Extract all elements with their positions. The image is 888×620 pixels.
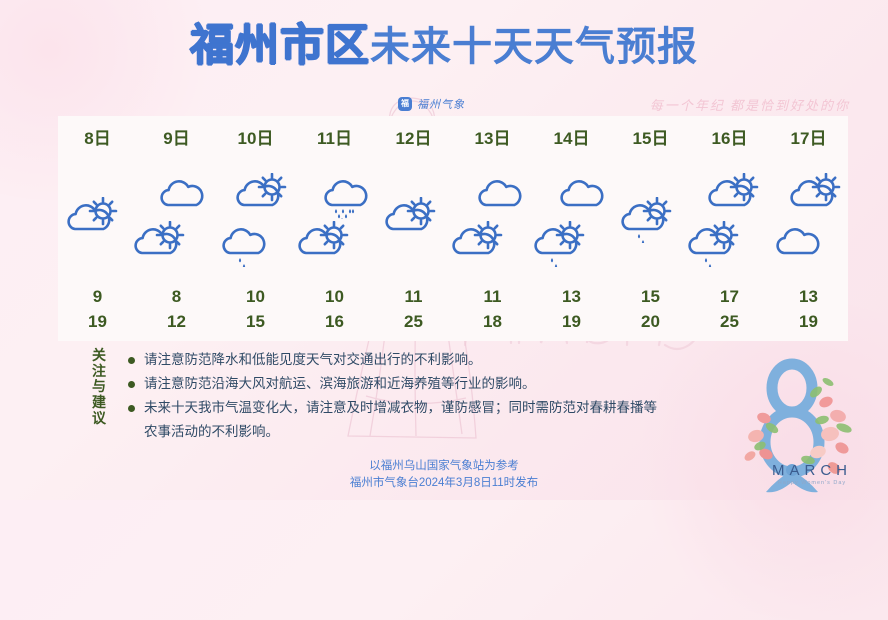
partly-cloudy-icon [448, 221, 510, 267]
cloudy-icon [468, 173, 530, 219]
forecast-temps-row: 91981210151016112511181319152017251319 [58, 284, 848, 340]
cloudy-icon [150, 173, 212, 219]
partly-cloudy-rain-icon [684, 221, 746, 267]
title-city: 福州市区 [190, 21, 370, 70]
temp-low: 10 [216, 284, 295, 309]
advisory-label: 关注与建议 [88, 348, 110, 444]
page-title: 福州市区未来十天天气预报 [0, 24, 888, 68]
temp-low: 10 [295, 284, 374, 309]
forecast-date: 11日 [295, 124, 374, 154]
advisory-item: 请注意防范降水和低能见度天气对交通出行的不利影响。 [124, 348, 657, 372]
advisory-item: 请注意防范沿海大风对航运、滨海旅游和近海养殖等行业的影响。 [124, 372, 657, 396]
partly-cloudy-icon [232, 173, 294, 219]
forecast-temp-cell: 1520 [611, 284, 690, 340]
partly-cloudy-rain-icon [530, 221, 592, 267]
ribbon-month-label: MARCH [752, 462, 872, 479]
temp-high: 25 [374, 309, 453, 334]
advisory-block: 关注与建议 请注意防范降水和低能见度天气对交通出行的不利影响。请注意防范沿海大风… [88, 348, 657, 444]
forecast-temp-cell: 1016 [295, 284, 374, 340]
cloudy-icon [550, 173, 612, 219]
forecast-date: 13日 [453, 124, 532, 154]
partly-cloudy-icon [130, 221, 192, 267]
forecast-icon-cell [130, 160, 212, 280]
forecast-temp-cell: 812 [137, 284, 216, 340]
ribbon-caption: MARCH Happy Women's Day [752, 462, 872, 486]
forecast-icon-cell [612, 160, 684, 280]
temp-high: 20 [611, 309, 690, 334]
forecast-date: 14日 [532, 124, 611, 154]
title-subject: 未来十天天气预报 [370, 25, 698, 69]
advisory-list: 请注意防范降水和低能见度天气对交通出行的不利影响。请注意防范沿海大风对航运、滨海… [124, 348, 657, 444]
forecast-date: 9日 [137, 124, 216, 154]
temp-low: 13 [532, 284, 611, 309]
temp-high: 19 [769, 309, 848, 334]
cloudy-icon [766, 221, 828, 267]
logo-label: 福州气象 [417, 96, 465, 112]
temp-low: 9 [58, 284, 137, 309]
temp-high: 18 [453, 309, 532, 334]
forecast-temp-cell: 1319 [532, 284, 611, 340]
partly-cloudy-icon [786, 173, 848, 219]
forecast-date: 10日 [216, 124, 295, 154]
forecast-temp-cell: 1118 [453, 284, 532, 340]
advisory-item: 农事活动的不利影响。 [124, 420, 657, 444]
forecast-date: 17日 [769, 124, 848, 154]
forecast-icon-cell [58, 160, 130, 280]
heavy-rain-icon [314, 173, 376, 219]
forecast-temp-cell: 1725 [690, 284, 769, 340]
logo-badge-icon: 福 [398, 97, 412, 111]
temp-low: 8 [137, 284, 216, 309]
tagline: 每一个年纪 都是恰到好处的你 [650, 95, 850, 114]
temp-low: 11 [374, 284, 453, 309]
forecast-date: 12日 [374, 124, 453, 154]
forecast-dates-row: 8日9日10日11日12日13日14日15日16日17日 [58, 124, 848, 154]
rain-icon [212, 221, 274, 267]
brand-logo: 福 福州气象 [398, 96, 465, 112]
forecast-icon-cell [212, 160, 294, 280]
temp-high: 15 [216, 309, 295, 334]
forecast-icon-cell [684, 160, 766, 280]
temp-high: 19 [58, 309, 137, 334]
forecast-icon-cell [530, 160, 612, 280]
forecast-temp-cell: 1125 [374, 284, 453, 340]
temp-low: 17 [690, 284, 769, 309]
partly-cloudy-icon [294, 221, 356, 267]
forecast-date: 15日 [611, 124, 690, 154]
partly-cloudy-icon [381, 197, 443, 243]
temp-low: 11 [453, 284, 532, 309]
forecast-date: 16日 [690, 124, 769, 154]
forecast-icon-cell [766, 160, 848, 280]
temp-low: 13 [769, 284, 848, 309]
ribbon-subtitle: Happy Women's Day [752, 480, 872, 486]
forecast-date: 8日 [58, 124, 137, 154]
advisory-item: 未来十天我市气温变化大，请注意及时增减衣物，谨防感冒；同时需防范对春耕春播等 [124, 396, 657, 420]
forecast-icon-cell [376, 160, 448, 280]
partly-cloudy-icon [63, 197, 125, 243]
forecast-temp-cell: 1319 [769, 284, 848, 340]
forecast-icons-row [58, 160, 848, 280]
partly-cloudy-rain-icon [617, 197, 679, 243]
forecast-temp-cell: 1015 [216, 284, 295, 340]
temp-high: 12 [137, 309, 216, 334]
forecast-icon-cell [294, 160, 376, 280]
temp-high: 25 [690, 309, 769, 334]
partly-cloudy-icon [704, 173, 766, 219]
temp-low: 15 [611, 284, 690, 309]
temp-high: 16 [295, 309, 374, 334]
forecast-temp-cell: 919 [58, 284, 137, 340]
temp-high: 19 [532, 309, 611, 334]
forecast-icon-cell [448, 160, 530, 280]
